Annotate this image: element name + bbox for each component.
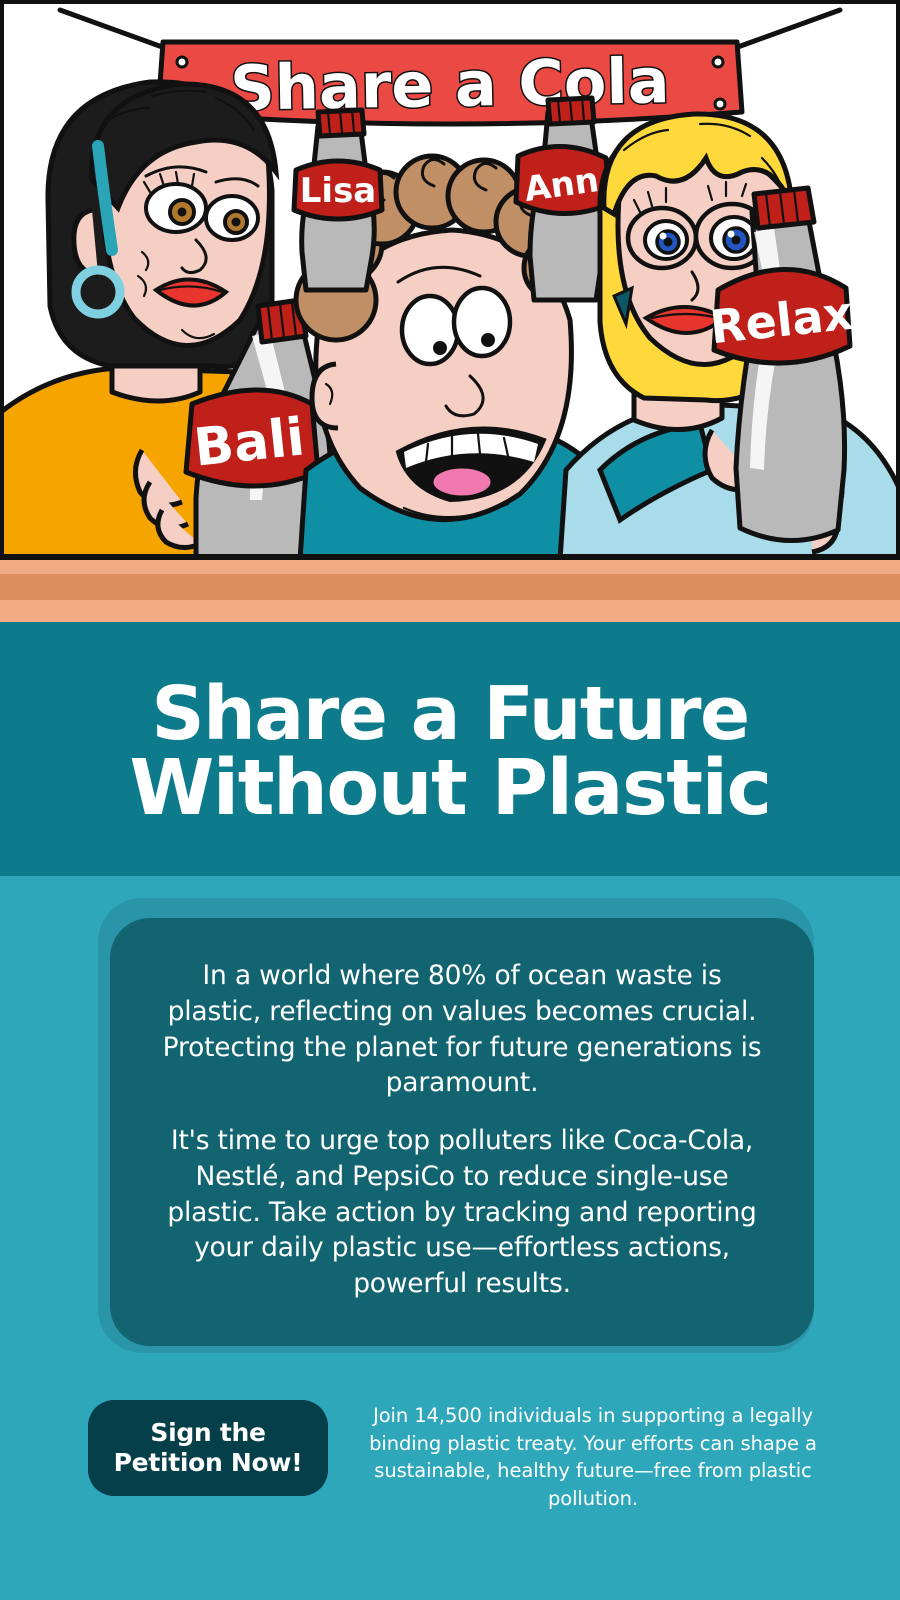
banner-text: Share a Cola bbox=[229, 44, 670, 125]
body-paragraph-2: It's time to urge top polluters like Coc… bbox=[154, 1123, 770, 1302]
sign-petition-button-line-1: Sign the bbox=[150, 1418, 265, 1449]
bottle-label-text-bali: Bali bbox=[191, 407, 307, 478]
page-title-line-1: Share a Future bbox=[129, 678, 770, 751]
poster-page: .ink { fill:none; stroke:#111; stroke-wi… bbox=[0, 0, 900, 1600]
hero-illustration: .ink { fill:none; stroke:#111; stroke-wi… bbox=[0, 0, 900, 560]
page-title-line-2: Without Plastic bbox=[129, 751, 770, 826]
separator-band-middle bbox=[0, 574, 900, 600]
body-card: In a world where 80% of ocean waste is p… bbox=[110, 918, 814, 1346]
separator-band-bottom bbox=[0, 600, 900, 622]
sign-petition-button[interactable]: Sign the Petition Now! bbox=[88, 1400, 328, 1496]
body-paragraph-1: In a world where 80% of ocean waste is p… bbox=[154, 958, 770, 1101]
cta-section: Sign the Petition Now! Join 14,500 indiv… bbox=[0, 1400, 900, 1560]
separator-band-top bbox=[0, 560, 900, 574]
page-title: Share a Future Without Plastic bbox=[129, 678, 770, 826]
cartoon-scene-svg: .ink { fill:none; stroke:#111; stroke-wi… bbox=[0, 0, 900, 560]
sign-petition-button-line-2: Petition Now! bbox=[114, 1448, 303, 1479]
bottle-label-text-lisa: Lisa bbox=[300, 171, 377, 211]
headline-section: Share a Future Without Plastic bbox=[0, 622, 900, 876]
cta-supporting-text: Join 14,500 individuals in supporting a … bbox=[358, 1400, 828, 1513]
